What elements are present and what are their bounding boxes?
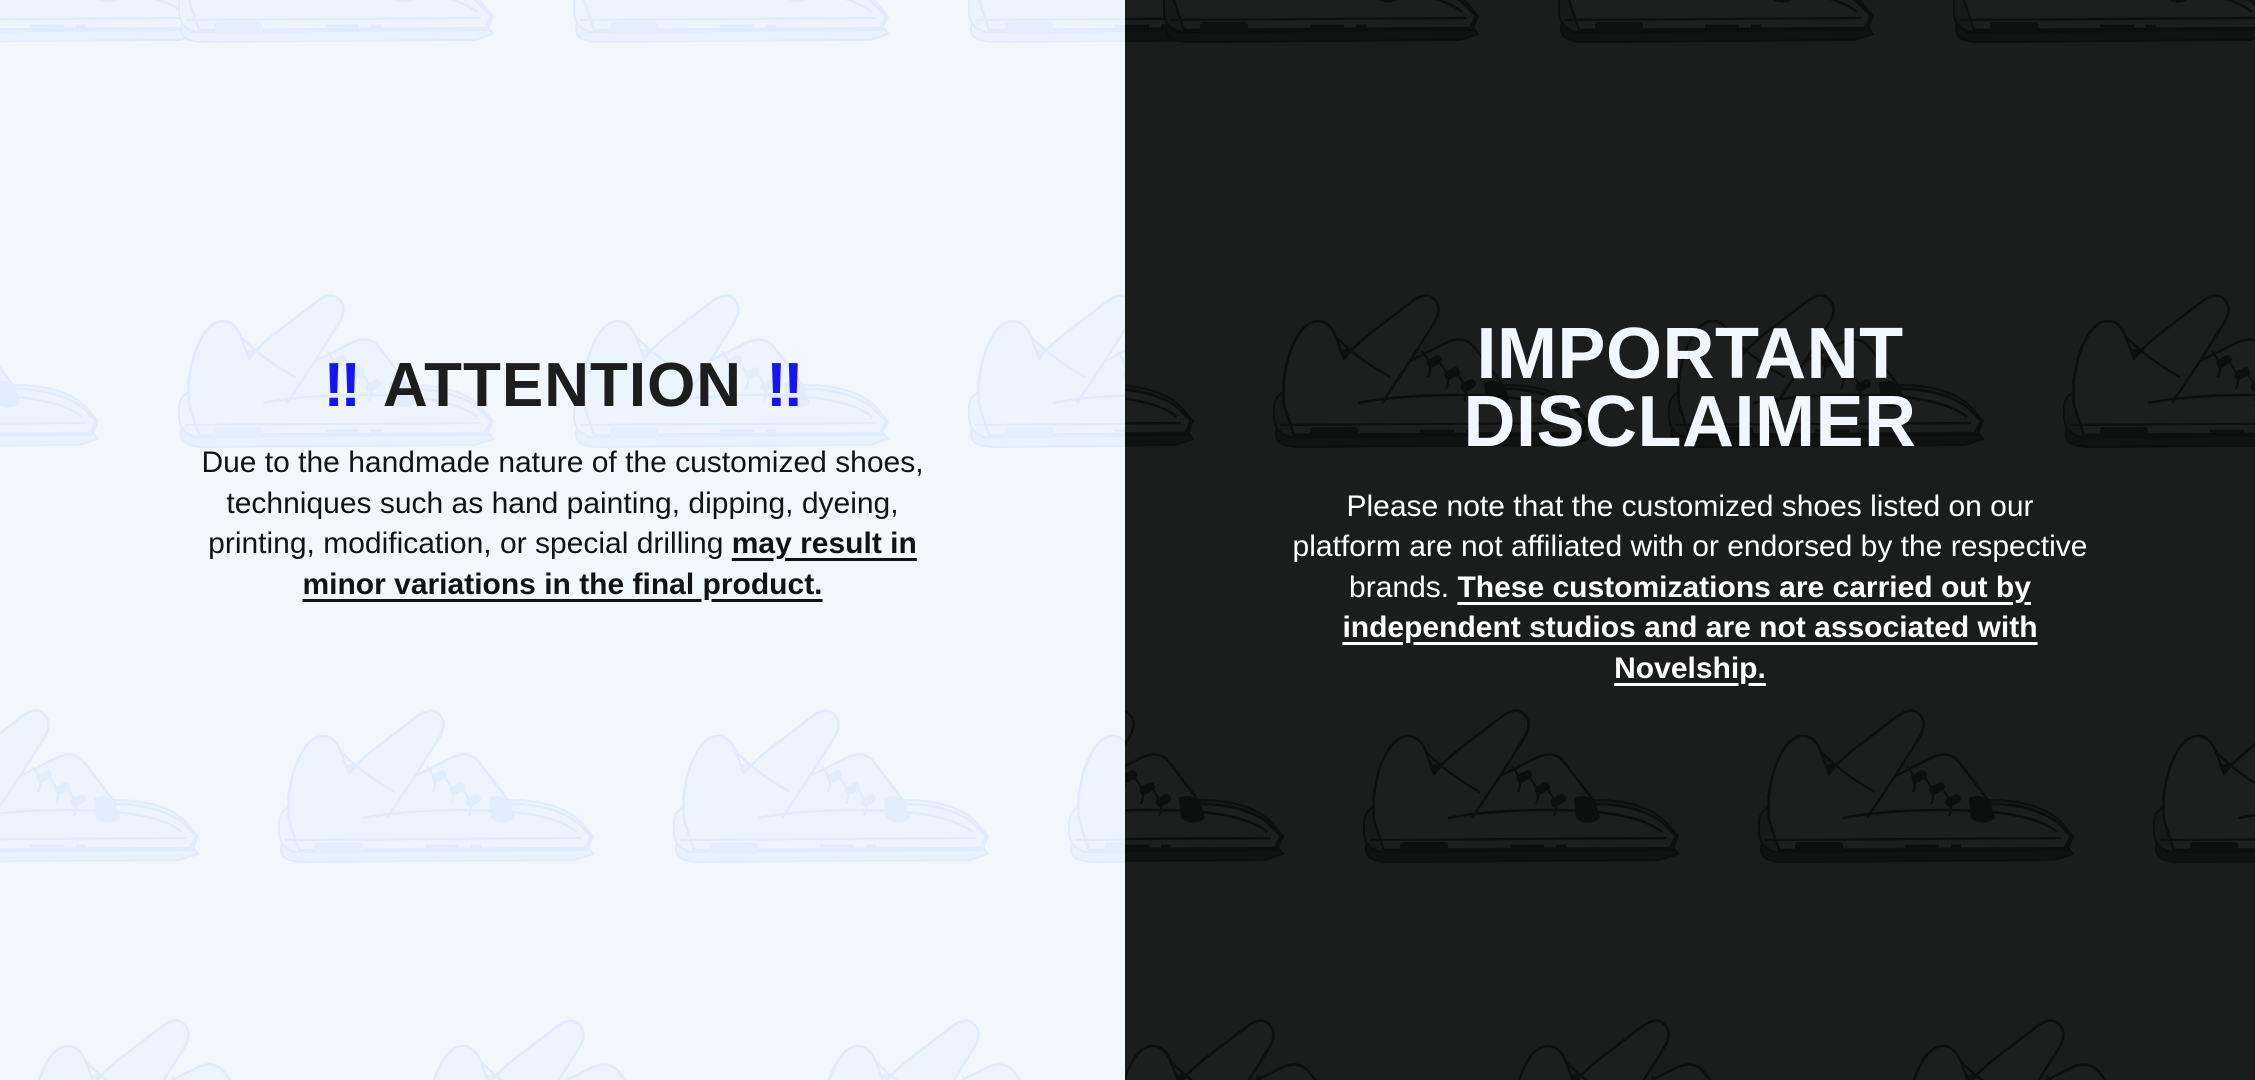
disclaimer-content: IMPORTANT DISCLAIMER Please note that th… [1125,0,2255,1080]
double-exclamation-icon-right: ‼ [766,355,801,417]
attention-content: ‼ ATTENTION ‼ Due to the handmade nature… [0,0,1125,1080]
attention-panel: ‼ ATTENTION ‼ Due to the handmade nature… [0,0,1125,1080]
attention-body: Due to the handmade nature of the custom… [183,443,943,605]
disclaimer-heading-line2: DISCLAIMER [1464,382,1917,462]
attention-heading-text: ATTENTION [383,355,742,417]
disclaimer-heading: IMPORTANT DISCLAIMER [1464,320,1917,457]
disclaimer-body: Please note that the customized shoes li… [1290,487,2090,690]
disclaimer-banner: ‼ ATTENTION ‼ Due to the handmade nature… [0,0,2255,1080]
double-exclamation-icon-left: ‼ [323,355,358,417]
attention-heading: ‼ ATTENTION ‼ [323,355,801,417]
disclaimer-panel: IMPORTANT DISCLAIMER Please note that th… [1125,0,2255,1080]
